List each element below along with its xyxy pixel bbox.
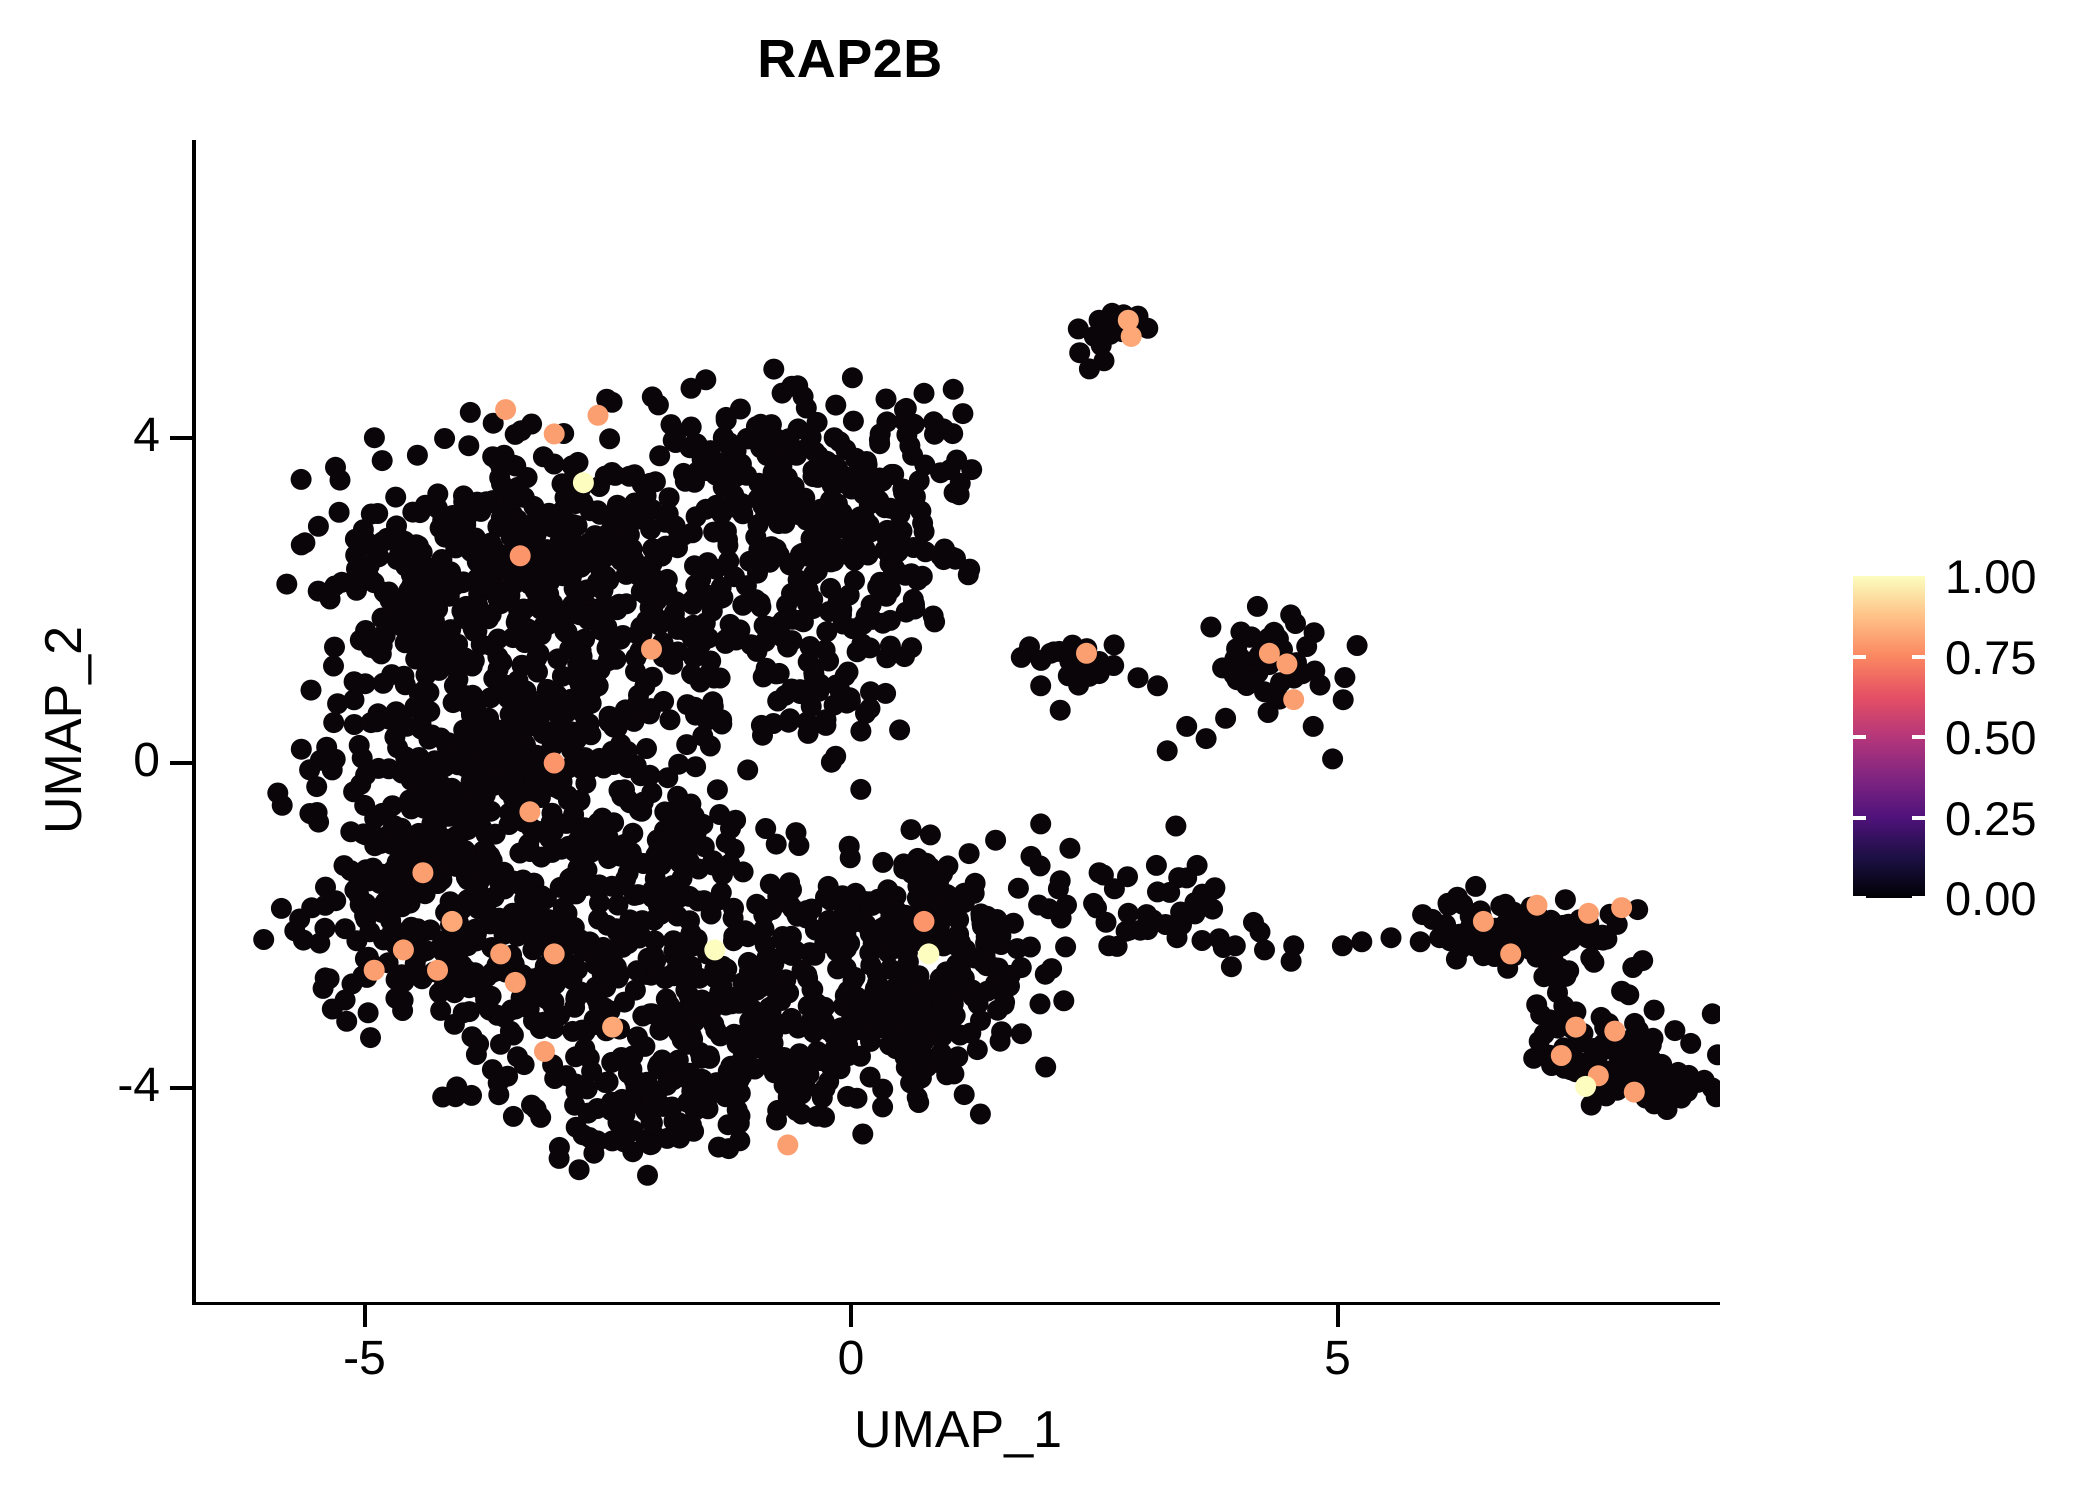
scatter-point xyxy=(421,725,442,746)
scatter-point xyxy=(1598,1013,1619,1034)
scatter-point xyxy=(835,538,856,559)
scatter-point xyxy=(867,963,888,984)
scatter-point xyxy=(1495,926,1516,947)
scatter-point xyxy=(456,739,477,760)
scatter-point xyxy=(888,993,909,1014)
scatter-point xyxy=(1304,622,1325,643)
scatter-point xyxy=(1035,964,1056,985)
scatter-point xyxy=(753,1004,774,1025)
scatter-point xyxy=(539,571,560,592)
scatter-point xyxy=(1333,689,1354,710)
scatter-point xyxy=(421,813,442,834)
scatter-point xyxy=(760,966,781,987)
scatter-point xyxy=(663,930,684,951)
scatter-point xyxy=(551,839,572,860)
scatter-point xyxy=(575,773,596,794)
scatter-point xyxy=(752,495,773,516)
scatter-point xyxy=(1285,613,1306,634)
scatter-point xyxy=(875,894,896,915)
scatter-point xyxy=(1594,1017,1615,1038)
scatter-point xyxy=(845,448,866,469)
scatter-point xyxy=(640,473,661,494)
scatter-point xyxy=(409,565,430,586)
scatter-point xyxy=(366,711,387,732)
scatter-point xyxy=(761,536,782,557)
scatter-point xyxy=(894,646,915,667)
scatter-point xyxy=(362,858,383,879)
scatter-point xyxy=(1610,1047,1631,1068)
scatter-point xyxy=(1665,1083,1686,1104)
scatter-point xyxy=(561,867,582,888)
scatter-point xyxy=(1100,324,1121,345)
scatter-point xyxy=(521,818,542,839)
scatter-point xyxy=(1440,930,1461,951)
scatter-point xyxy=(491,473,512,494)
scatter-point xyxy=(760,1056,781,1077)
scatter-point xyxy=(629,800,650,821)
scatter-point xyxy=(643,945,664,966)
scatter-point xyxy=(507,1046,528,1067)
scatter-point xyxy=(908,917,929,938)
scatter-point xyxy=(637,1165,658,1186)
scatter-point xyxy=(855,914,876,935)
scatter-point xyxy=(418,729,439,750)
scatter-point xyxy=(684,472,705,493)
scatter-point xyxy=(537,679,558,700)
scatter-point xyxy=(732,493,753,514)
scatter-point xyxy=(427,498,448,519)
scatter-point xyxy=(679,910,700,931)
scatter-point xyxy=(417,830,438,851)
scatter-point xyxy=(564,997,585,1018)
scatter-point-highlighted xyxy=(1259,643,1280,664)
scatter-point xyxy=(611,711,632,732)
scatter-point xyxy=(606,957,627,978)
scatter-point xyxy=(1464,936,1485,957)
scatter-point xyxy=(904,414,925,435)
scatter-point xyxy=(513,561,534,582)
scatter-point xyxy=(747,563,768,584)
scatter-point xyxy=(406,622,427,643)
scatter-point xyxy=(1250,922,1271,943)
scatter-point xyxy=(523,701,544,722)
scatter-point xyxy=(666,798,687,819)
scatter-point xyxy=(384,727,405,748)
scatter-point xyxy=(430,774,451,795)
scatter-point xyxy=(505,686,526,707)
scatter-point xyxy=(557,621,578,642)
scatter-point xyxy=(486,960,507,981)
scatter-point xyxy=(414,798,435,819)
scatter-point xyxy=(662,1097,683,1118)
scatter-point xyxy=(652,1050,673,1071)
scatter-point xyxy=(553,423,574,444)
scatter-point xyxy=(763,953,784,974)
scatter-point xyxy=(1031,650,1052,671)
scatter-point xyxy=(892,497,913,518)
scatter-point xyxy=(692,726,713,747)
scatter-point xyxy=(955,939,976,960)
scatter-point xyxy=(842,467,863,488)
scatter-point xyxy=(709,804,730,825)
scatter-point xyxy=(1591,1040,1612,1061)
scatter-point xyxy=(449,508,470,529)
scatter-point xyxy=(405,599,426,620)
scatter-point xyxy=(549,779,570,800)
scatter-point xyxy=(407,445,428,466)
scatter-point xyxy=(771,488,792,509)
scatter-point xyxy=(805,1015,826,1036)
scatter-point xyxy=(453,719,474,740)
scatter-point xyxy=(1539,1009,1560,1030)
scatter-point xyxy=(602,392,623,413)
scatter-point xyxy=(755,663,776,684)
scatter-point xyxy=(464,621,485,642)
scatter-point xyxy=(684,805,705,826)
scatter-point xyxy=(1630,1037,1651,1058)
scatter-point xyxy=(1694,1070,1715,1091)
scatter-point xyxy=(929,867,950,888)
scatter-point xyxy=(606,542,627,563)
scatter-point xyxy=(607,536,628,557)
scatter-point xyxy=(994,994,1015,1015)
scatter-point xyxy=(686,506,707,527)
scatter-point xyxy=(713,427,734,448)
scatter-point xyxy=(1487,927,1508,948)
scatter-point xyxy=(391,964,412,985)
scatter-point xyxy=(414,594,435,615)
scatter-point xyxy=(1560,930,1581,951)
scatter-point xyxy=(542,803,563,824)
scatter-point xyxy=(699,663,720,684)
scatter-point xyxy=(468,707,489,728)
scatter-point xyxy=(587,545,608,566)
scatter-point xyxy=(566,667,587,688)
scatter-point xyxy=(889,963,910,984)
scatter-point xyxy=(893,853,914,874)
scatter-point xyxy=(544,1068,565,1089)
scatter-point xyxy=(728,986,749,1007)
scatter-point xyxy=(1465,876,1486,897)
scatter-point xyxy=(1248,662,1269,683)
scatter-point xyxy=(488,747,509,768)
scatter-point xyxy=(366,709,387,730)
scatter-point xyxy=(419,854,440,875)
scatter-point xyxy=(709,457,730,478)
scatter-point xyxy=(1470,900,1491,921)
scatter-point xyxy=(1553,996,1574,1017)
scatter-point xyxy=(464,650,485,671)
scatter-point xyxy=(619,524,640,545)
scatter-point xyxy=(1157,740,1178,761)
scatter-point xyxy=(1079,666,1100,687)
scatter-point xyxy=(870,423,891,444)
scatter-point xyxy=(1196,728,1217,749)
scatter-point xyxy=(1555,889,1576,910)
scatter-point xyxy=(961,459,982,480)
scatter-point xyxy=(923,606,944,627)
scatter-point xyxy=(529,966,550,987)
scatter-point xyxy=(405,754,426,775)
scatter-points-layer xyxy=(196,140,1720,1302)
colorbar-tick-mark xyxy=(1853,896,1925,900)
scatter-point xyxy=(697,446,718,467)
scatter-point xyxy=(822,475,843,496)
scatter-point xyxy=(513,599,534,620)
scatter-point xyxy=(726,440,747,461)
scatter-point xyxy=(529,691,550,712)
scatter-point xyxy=(416,826,437,847)
scatter-point xyxy=(814,1107,835,1128)
scatter-point xyxy=(903,537,924,558)
scatter-point xyxy=(556,1065,577,1086)
scatter-point xyxy=(400,630,421,651)
scatter-point xyxy=(1049,641,1070,662)
scatter-point xyxy=(322,759,343,780)
scatter-point xyxy=(1645,1077,1666,1098)
scatter-point xyxy=(1628,1020,1649,1041)
scatter-point xyxy=(466,738,487,759)
scatter-point xyxy=(582,943,603,964)
scatter-point xyxy=(501,526,522,547)
scatter-point xyxy=(481,727,502,748)
scatter-point xyxy=(479,724,500,745)
scatter-point xyxy=(657,581,678,602)
scatter-point xyxy=(823,1025,844,1046)
scatter-point xyxy=(1617,1062,1638,1083)
scatter-point xyxy=(645,845,666,866)
scatter-point xyxy=(405,696,426,717)
scatter-point xyxy=(728,987,749,1008)
scatter-point xyxy=(393,895,414,916)
scatter-point xyxy=(1069,342,1090,363)
scatter-point xyxy=(666,1001,687,1022)
scatter-point xyxy=(663,823,684,844)
scatter-point xyxy=(796,908,817,929)
scatter-point xyxy=(843,904,864,925)
scatter-point xyxy=(598,827,619,848)
scatter-point xyxy=(683,647,704,668)
scatter-point xyxy=(718,551,739,572)
scatter-point xyxy=(757,947,778,968)
scatter-point xyxy=(512,698,533,719)
scatter-point xyxy=(1059,838,1080,859)
scatter-point xyxy=(457,597,478,618)
scatter-point xyxy=(489,873,510,894)
scatter-point xyxy=(544,599,565,620)
scatter-point xyxy=(400,893,421,914)
scatter-point xyxy=(897,925,918,946)
scatter-point xyxy=(396,716,417,737)
scatter-point xyxy=(842,477,863,498)
scatter-point xyxy=(655,578,676,599)
scatter-point xyxy=(718,1061,739,1082)
scatter-point xyxy=(443,964,464,985)
scatter-point xyxy=(466,1044,487,1065)
scatter-point xyxy=(636,1101,657,1122)
scatter-point xyxy=(641,1134,662,1155)
scatter-point xyxy=(1549,958,1570,979)
scatter-point xyxy=(772,383,793,404)
scatter-point xyxy=(355,909,376,930)
scatter-point xyxy=(566,694,587,715)
scatter-point xyxy=(622,823,643,844)
scatter-point xyxy=(877,520,898,541)
scatter-point xyxy=(1578,913,1599,934)
scatter-point xyxy=(1628,1071,1649,1092)
scatter-point xyxy=(793,1051,814,1072)
scatter-point xyxy=(456,960,477,981)
scatter-point xyxy=(690,672,711,693)
scatter-point xyxy=(419,640,440,661)
scatter-point xyxy=(774,1047,795,1068)
scatter-point xyxy=(704,959,725,980)
scatter-point xyxy=(939,1012,960,1033)
scatter-point xyxy=(625,980,646,1001)
scatter-point xyxy=(467,595,488,616)
scatter-point xyxy=(352,748,373,769)
scatter-point xyxy=(630,765,651,786)
scatter-point xyxy=(1003,913,1024,934)
scatter-point xyxy=(331,572,352,593)
scatter-point xyxy=(567,831,588,852)
scatter-point xyxy=(565,493,586,514)
scatter-point xyxy=(984,957,1005,978)
scatter-point xyxy=(444,1014,465,1035)
scatter-point xyxy=(677,694,698,715)
scatter-point xyxy=(370,873,391,894)
scatter-point xyxy=(820,462,841,483)
scatter-point xyxy=(598,1071,619,1092)
scatter-point xyxy=(1176,716,1197,737)
scatter-point xyxy=(789,584,810,605)
scatter-point xyxy=(553,606,574,627)
scatter-point xyxy=(859,1016,880,1037)
scatter-point xyxy=(827,493,848,514)
scatter-point xyxy=(530,914,551,935)
scatter-point xyxy=(308,516,329,537)
scatter-point xyxy=(657,569,678,590)
scatter-point xyxy=(577,543,598,564)
scatter-point xyxy=(774,1062,795,1083)
scatter-point xyxy=(1215,708,1236,729)
scatter-point xyxy=(371,902,392,923)
scatter-point xyxy=(400,590,421,611)
scatter-point xyxy=(639,703,660,724)
scatter-point xyxy=(426,838,447,859)
scatter-point xyxy=(880,905,901,926)
scatter-point xyxy=(907,570,928,591)
scatter-point xyxy=(630,641,651,662)
scatter-point xyxy=(836,693,857,714)
scatter-point xyxy=(502,903,523,924)
scatter-point xyxy=(714,1073,735,1094)
scatter-point xyxy=(945,1005,966,1026)
scatter-point xyxy=(792,903,813,924)
scatter-point xyxy=(1283,668,1304,689)
scatter-point xyxy=(667,641,688,662)
scatter-point xyxy=(854,509,875,530)
scatter-point xyxy=(745,526,766,547)
scatter-point xyxy=(1613,1057,1634,1078)
scatter-point xyxy=(592,964,613,985)
scatter-point xyxy=(477,568,498,589)
scatter-point xyxy=(507,509,528,530)
scatter-point xyxy=(289,909,310,930)
scatter-point xyxy=(538,584,559,605)
scatter-point xyxy=(642,1003,663,1024)
scatter-point xyxy=(642,499,663,520)
scatter-point xyxy=(427,873,448,894)
scatter-point xyxy=(709,982,730,1003)
scatter-point xyxy=(659,1007,680,1028)
scatter-point xyxy=(488,671,509,692)
scatter-point xyxy=(916,901,937,922)
scatter-point xyxy=(1567,1033,1588,1054)
scatter-point xyxy=(566,1117,587,1138)
scatter-point xyxy=(557,516,578,537)
scatter-point xyxy=(760,874,781,895)
scatter-point xyxy=(862,895,883,916)
scatter-point xyxy=(782,898,803,919)
scatter-point xyxy=(539,828,560,849)
scatter-point-highlighted xyxy=(544,423,565,444)
scatter-point xyxy=(994,992,1015,1013)
scatter-point xyxy=(299,759,320,780)
scatter-point xyxy=(1081,657,1102,678)
scatter-point xyxy=(626,851,647,872)
scatter-point xyxy=(446,974,467,995)
scatter-point xyxy=(880,498,901,519)
scatter-point xyxy=(1485,918,1506,939)
scatter-point xyxy=(358,1002,379,1023)
scatter-point xyxy=(585,954,606,975)
scatter-point xyxy=(501,758,522,779)
scatter-point xyxy=(423,792,444,813)
scatter-point xyxy=(637,702,658,723)
scatter-point xyxy=(1019,636,1040,657)
scatter-point xyxy=(867,577,888,598)
scatter-point xyxy=(669,852,690,873)
scatter-point xyxy=(1472,928,1493,949)
scatter-point xyxy=(660,611,681,632)
scatter-point xyxy=(752,1015,773,1036)
scatter-point xyxy=(675,815,696,836)
scatter-point xyxy=(723,484,744,505)
scatter-point xyxy=(1264,622,1285,643)
scatter-point xyxy=(719,433,740,454)
scatter-point xyxy=(491,741,512,762)
scatter-point xyxy=(1187,895,1208,916)
scatter-point xyxy=(661,414,682,435)
scatter-point xyxy=(544,918,565,939)
scatter-point xyxy=(581,983,602,1004)
scatter-point xyxy=(446,856,467,877)
scatter-point xyxy=(818,1071,839,1092)
scatter-point xyxy=(688,859,709,880)
scatter-point xyxy=(384,833,405,854)
scatter-point xyxy=(531,758,552,779)
scatter-point xyxy=(566,986,587,1007)
scatter-point xyxy=(530,599,551,620)
scatter-point xyxy=(462,1026,483,1047)
scatter-point xyxy=(1086,897,1107,918)
scatter-point xyxy=(667,906,688,927)
scatter-point xyxy=(413,626,434,647)
scatter-point xyxy=(395,632,416,653)
scatter-point xyxy=(1549,961,1570,982)
scatter-point xyxy=(1702,1003,1720,1024)
